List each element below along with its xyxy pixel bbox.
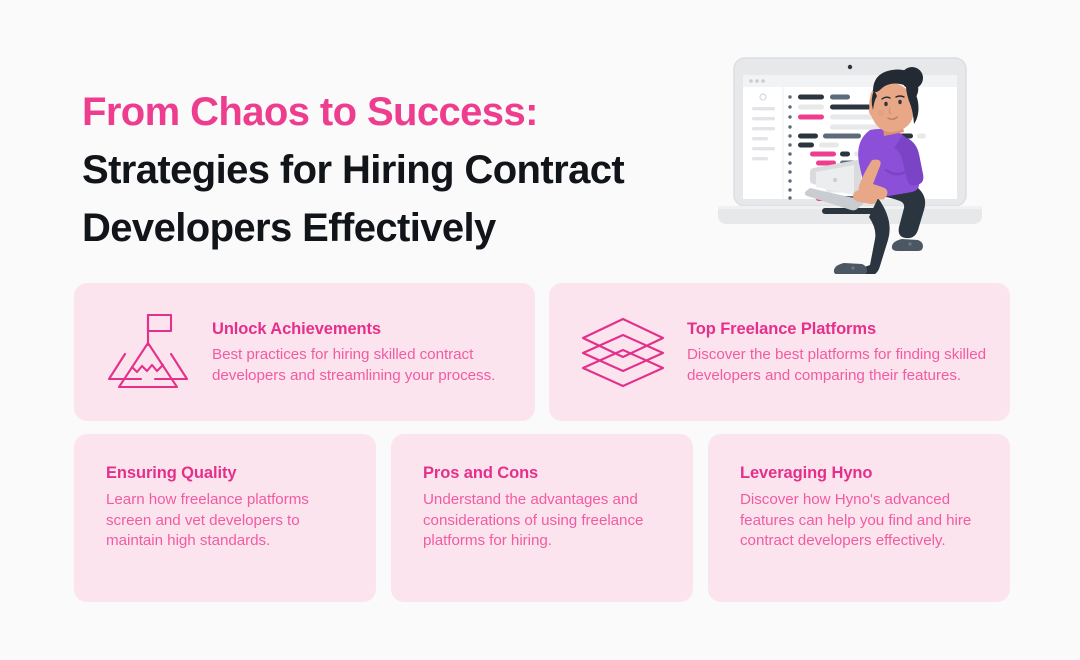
- headline-line-2: Strategies for Hiring Contract: [82, 141, 722, 199]
- card-description: Best practices for hiring skilled contra…: [212, 345, 513, 386]
- infographic-page: From Chaos to Success: Strategies for Hi…: [0, 0, 1080, 660]
- card-text: Unlock Achievements Best practices for h…: [204, 318, 513, 386]
- card-title: Pros and Cons: [423, 462, 671, 484]
- layers-stack-icon: [567, 314, 679, 390]
- headline-line-1: From Chaos to Success:: [82, 83, 722, 141]
- card-top-freelance-platforms[interactable]: Top Freelance Platforms Discover the bes…: [549, 283, 1010, 421]
- card-title: Unlock Achievements: [212, 318, 513, 340]
- card-description: Learn how freelance platforms screen and…: [106, 490, 354, 552]
- headline-line-3: Developers Effectively: [82, 199, 722, 257]
- card-description: Discover how Hyno's advanced features ca…: [740, 490, 988, 552]
- feature-cards-top-row: Unlock Achievements Best practices for h…: [74, 283, 1010, 421]
- card-title: Ensuring Quality: [106, 462, 354, 484]
- card-title: Leveraging Hyno: [740, 462, 988, 484]
- woman-sitting-on-laptop-illustration: [716, 56, 984, 274]
- card-unlock-achievements[interactable]: Unlock Achievements Best practices for h…: [74, 283, 535, 421]
- feature-cards-bottom-row: Ensuring Quality Learn how freelance pla…: [74, 434, 1010, 602]
- card-description: Discover the best platforms for finding …: [687, 345, 988, 386]
- card-description: Understand the advantages and considerat…: [423, 490, 671, 552]
- card-pros-and-cons[interactable]: Pros and Cons Understand the advantages …: [391, 434, 693, 602]
- card-title: Top Freelance Platforms: [687, 318, 988, 340]
- mountain-flag-icon: [92, 309, 204, 395]
- card-ensuring-quality[interactable]: Ensuring Quality Learn how freelance pla…: [74, 434, 376, 602]
- card-text: Top Freelance Platforms Discover the bes…: [679, 318, 988, 386]
- card-leveraging-hyno[interactable]: Leveraging Hyno Discover how Hyno's adva…: [708, 434, 1010, 602]
- page-title: From Chaos to Success: Strategies for Hi…: [82, 83, 722, 257]
